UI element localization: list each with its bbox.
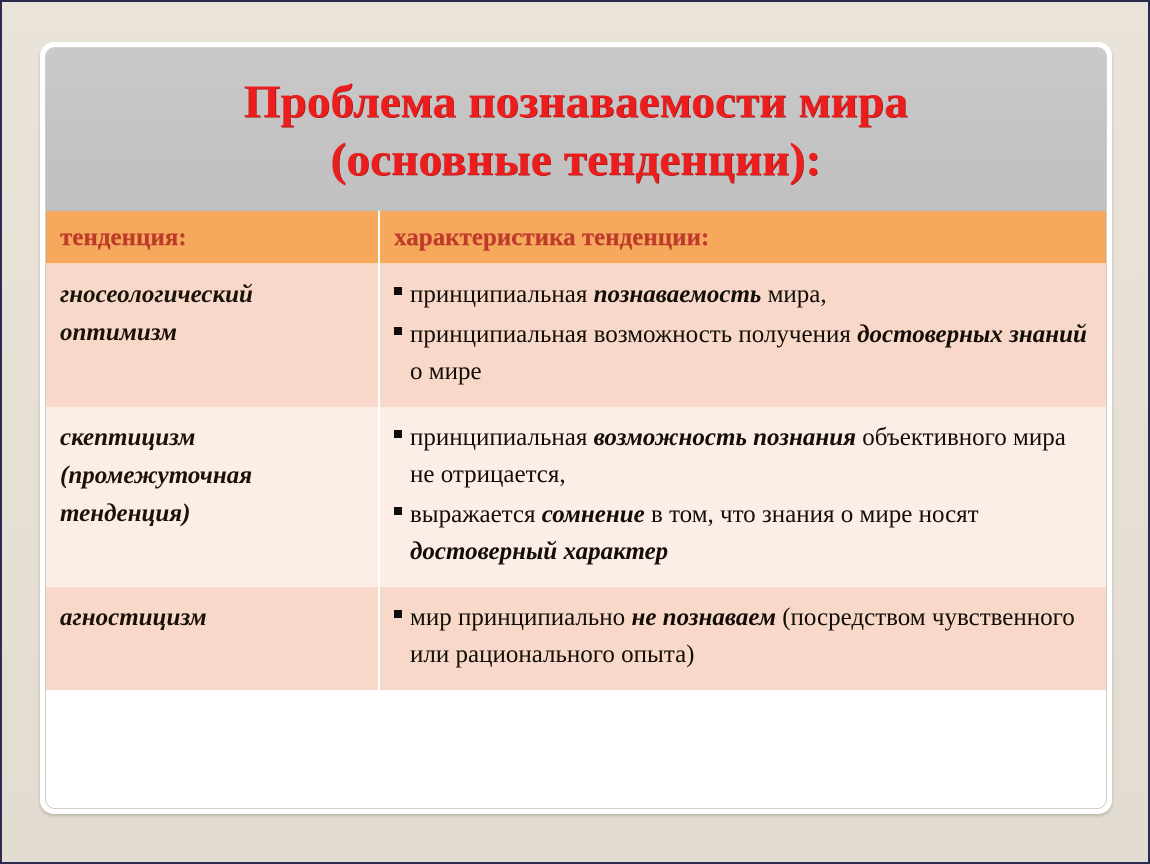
characteristic-item: выражается сомнение в том, что знания о … (394, 496, 1094, 571)
header-cell-characteristic: характеристика тенденции: (379, 211, 1106, 264)
tendency-name: гносеологический оптимизм (60, 276, 366, 352)
cell-characteristic: мир принципиально не познаваем (посредст… (379, 587, 1106, 690)
header-label-characteristic: характеристика тенденции: (380, 224, 1106, 252)
content-frame: Проблема познаваемости мира (основные те… (40, 42, 1112, 814)
emphasis-text: возможность познания (594, 424, 856, 451)
emphasis-text: не познаваем (631, 604, 776, 631)
plain-text: принципиальная (410, 281, 594, 308)
cell-characteristic: принципиальная познаваемость мира,принци… (379, 264, 1106, 407)
emphasis-text: достоверных знаний (857, 321, 1087, 348)
cell-tendency: скептицизм (промежуточная тенденция) (46, 407, 379, 587)
characteristic-item: принципиальная познаваемость мира, (394, 276, 1094, 314)
characteristic-list: мир принципиально не познаваем (посредст… (394, 599, 1094, 674)
slide-root: { "slide": { "title_lines": [ "Проблема … (0, 0, 1150, 864)
header-label-tendency: тенденция: (46, 224, 378, 252)
characteristic-list: принципиальная познаваемость мира,принци… (394, 276, 1094, 391)
characteristic-item: мир принципиально не познаваем (посредст… (394, 599, 1094, 674)
plain-text: принципиальная (410, 424, 594, 451)
cell-characteristic: принципиальная возможность познания объе… (379, 407, 1106, 587)
table-row: агностицизммир принципиально не познавае… (46, 587, 1106, 690)
tendencies-table: тенденция: характеристика тенденции: гно… (46, 211, 1106, 690)
cell-tendency: гносеологический оптимизм (46, 264, 379, 407)
square-bullet-icon (394, 327, 402, 335)
characteristic-item: принципиальная возможность познания объе… (394, 419, 1094, 494)
plain-text: выражается (410, 501, 542, 528)
slide-title-line-1: Проблема познаваемости мира (244, 74, 908, 131)
square-bullet-icon (394, 287, 402, 295)
header-cell-tendency: тенденция: (46, 211, 379, 264)
plain-text: принципиальная возможность получения (410, 321, 857, 348)
square-bullet-icon (394, 610, 402, 618)
table-row: гносеологический оптимизмпринципиальная … (46, 264, 1106, 407)
slide-canvas: Проблема познаваемости мира (основные те… (2, 2, 1148, 862)
characteristic-item: принципиальная возможность получения дос… (394, 316, 1094, 391)
plain-text: мир принципиально (410, 604, 631, 631)
frame-inner: Проблема познаваемости мира (основные те… (46, 48, 1106, 808)
plain-text: о мире (410, 358, 482, 385)
table-row: скептицизм (промежуточная тенденция)прин… (46, 407, 1106, 587)
emphasis-text: познаваемость (594, 281, 762, 308)
characteristic-list: принципиальная возможность познания объе… (394, 419, 1094, 571)
cell-tendency: агностицизм (46, 587, 379, 690)
emphasis-text: достоверный характер (410, 538, 668, 565)
square-bullet-icon (394, 507, 402, 515)
plain-text: мира, (761, 281, 826, 308)
plain-text: в том, что знания о мире носят (645, 501, 979, 528)
emphasis-text: сомнение (542, 501, 645, 528)
tendency-name: скептицизм (промежуточная тенденция) (60, 419, 366, 533)
table-body: тенденция: характеристика тенденции: гно… (46, 211, 1106, 690)
tendency-name: агностицизм (60, 599, 366, 637)
table-header-row: тенденция: характеристика тенденции: (46, 211, 1106, 264)
slide-title-line-2: (основные тенденции): (331, 132, 822, 189)
square-bullet-icon (394, 430, 402, 438)
title-band: Проблема познаваемости мира (основные те… (46, 48, 1106, 211)
